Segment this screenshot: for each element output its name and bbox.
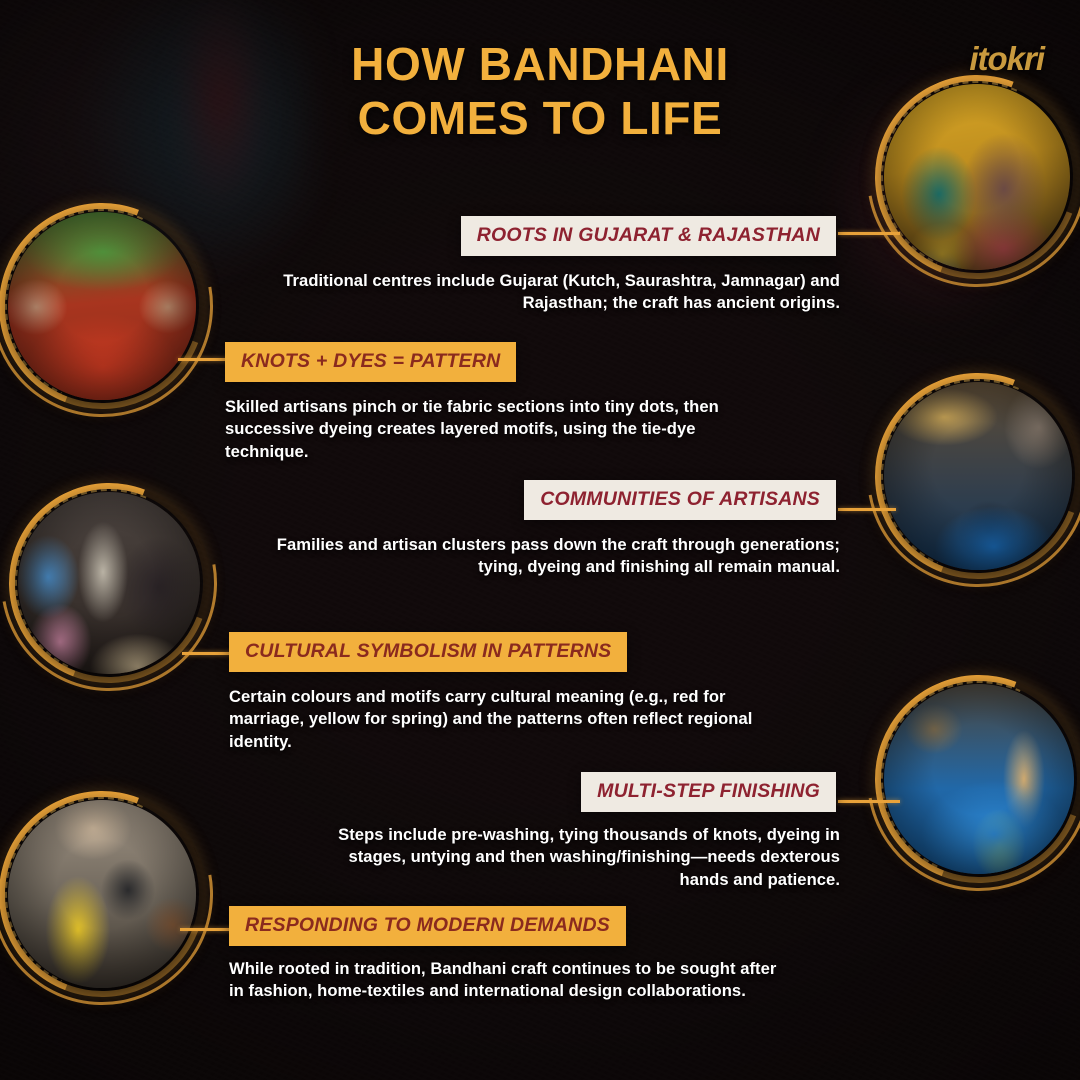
photo-frame: [8, 212, 196, 400]
section-heading-text: MULTI-STEP FINISHING: [597, 780, 820, 802]
section-body-text: While rooted in tradition, Bandhani craf…: [229, 959, 776, 1000]
photo-shade: [8, 212, 196, 400]
photo-shade: [884, 382, 1072, 570]
section-heading-cultural-symbolism-in-patterns: CULTURAL SYMBOLISM IN PATTERNS: [229, 632, 627, 672]
photo-frame: [884, 382, 1072, 570]
section-body-text: Skilled artisans pinch or tie fabric sec…: [225, 397, 719, 461]
section-body-knots-dyes-pattern: Skilled artisans pinch or tie fabric sec…: [225, 396, 755, 463]
page-title-line-2: COMES TO LIFE: [0, 92, 1080, 146]
infographic-canvas: HOW BANDHANI COMES TO LIFE itokri: [0, 0, 1080, 1080]
photo-circle-man-lifting-yellow-skein: [8, 800, 196, 988]
photo-shade: [8, 800, 196, 988]
connector-line-section-6: [180, 928, 236, 931]
photo-circle-hands-tying-red-fabric: [8, 212, 196, 400]
section-heading-text: CULTURAL SYMBOLISM IN PATTERNS: [245, 640, 611, 662]
section-heading-text: ROOTS IN GUJARAT & RAJASTHAN: [477, 224, 820, 246]
photo-circle-dyer-blue-tub: [884, 382, 1072, 570]
section-body-cultural-symbolism-in-patterns: Certain colours and motifs carry cultura…: [229, 686, 759, 753]
photo-shade: [884, 684, 1074, 874]
itokri-logo[interactable]: itokri: [969, 40, 1044, 78]
section-body-communities-of-artisans: Families and artisan clusters pass down …: [240, 534, 840, 579]
photo-shade: [18, 492, 200, 674]
connector-line-section-3: [838, 508, 896, 511]
photo-frame: [8, 800, 196, 988]
page-title: HOW BANDHANI COMES TO LIFE: [0, 38, 1080, 146]
section-body-text: Families and artisan clusters pass down …: [277, 535, 840, 576]
section-heading-communities-of-artisans: COMMUNITIES OF ARTISANS: [524, 480, 836, 520]
itokri-logo-text: itokri: [969, 40, 1044, 77]
connector-line-section-5: [838, 800, 900, 803]
section-heading-text: RESPONDING TO MODERN DEMANDS: [245, 914, 610, 936]
section-heading-responding-to-modern-demands: RESPONDING TO MODERN DEMANDS: [229, 906, 626, 946]
photo-circle-artisan-cluster-women: [18, 492, 200, 674]
page-title-line-1: HOW BANDHANI: [351, 38, 729, 90]
section-heading-text: KNOTS + DYES = PATTERN: [241, 350, 500, 372]
section-body-text: Certain colours and motifs carry cultura…: [229, 687, 752, 751]
section-body-text: Traditional centres include Gujarat (Kut…: [283, 271, 840, 312]
photo-frame: [18, 492, 200, 674]
photo-frame: [884, 684, 1074, 874]
section-body-responding-to-modern-demands: While rooted in tradition, Bandhani craf…: [229, 958, 781, 1003]
section-body-multi-step-finishing: Steps include pre-washing, tying thousan…: [320, 824, 840, 891]
photo-circle-blue-dye-vat: [884, 684, 1074, 874]
connector-line-section-1: [838, 232, 900, 235]
section-heading-multi-step-finishing: MULTI-STEP FINISHING: [581, 772, 836, 812]
section-heading-text: COMMUNITIES OF ARTISANS: [540, 488, 820, 510]
section-body-roots-in-gujarat-rajasthan: Traditional centres include Gujarat (Kut…: [278, 270, 840, 315]
section-body-text: Steps include pre-washing, tying thousan…: [338, 825, 840, 889]
section-heading-roots-in-gujarat-rajasthan: ROOTS IN GUJARAT & RAJASTHAN: [461, 216, 836, 256]
connector-line-section-4: [182, 652, 236, 655]
section-heading-knots-dyes-pattern: KNOTS + DYES = PATTERN: [225, 342, 516, 382]
